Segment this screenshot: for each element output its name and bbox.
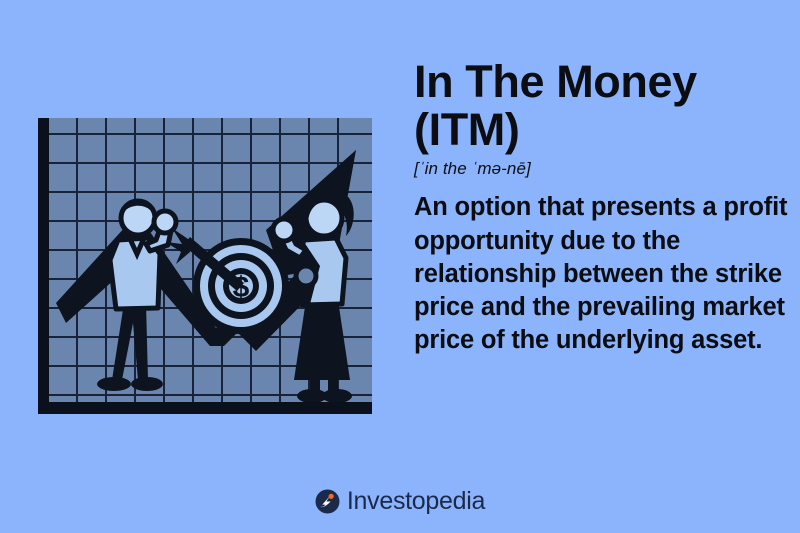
stock-chart-illustration: $ xyxy=(38,118,372,416)
definition-card: $ xyxy=(0,0,800,533)
brand-name: Investopedia xyxy=(347,489,485,514)
title-line-2: (ITM) xyxy=(414,104,519,155)
chart-y-axis xyxy=(38,118,49,414)
definition-body: An option that presents a profit opportu… xyxy=(414,191,790,357)
brand-footer: Investopedia xyxy=(0,489,800,514)
title-line-1: In The Money xyxy=(414,56,697,107)
pronunciation-text: [ˈin the ˈmə-nē] xyxy=(414,159,790,179)
investopedia-logo-icon xyxy=(315,489,340,514)
definition-text-column: In The Money (ITM) [ˈin the ˈmə-nē] An o… xyxy=(414,58,790,357)
page-title: In The Money (ITM) xyxy=(414,58,790,153)
chart-x-axis xyxy=(38,402,372,414)
